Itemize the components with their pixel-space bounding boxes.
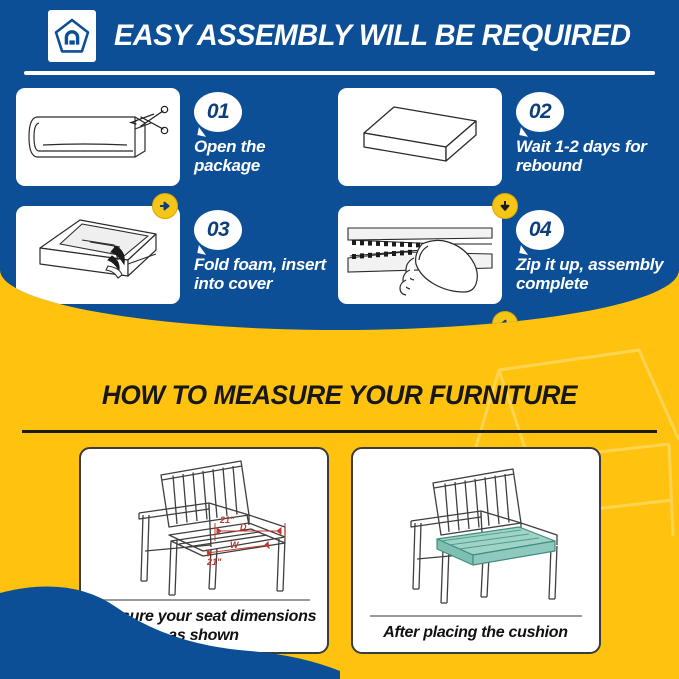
measure-panels: 21" D W 21" Measure your seat dimensions… — [0, 447, 679, 654]
measure-section: HOW TO MEASURE YOUR FURNITURE — [0, 330, 679, 679]
step-04-text: 04 Zip it up, assembly complete — [516, 206, 679, 293]
step-row-2: 03 Fold foam, insert into cover — [0, 206, 679, 324]
step-01-number: 01 — [207, 100, 229, 124]
panel-cushion-placed: After placing the cushion — [351, 447, 601, 654]
step-03-label: Fold foam, insert into cover — [194, 255, 330, 293]
step-04-label: Zip it up, assembly complete — [516, 255, 679, 293]
panel-cushion-illustration — [353, 449, 599, 615]
step-02-illustration — [338, 88, 502, 186]
panel-measure-illustration: 21" D W 21" — [81, 449, 327, 599]
step-02-number: 02 — [529, 100, 551, 124]
arrow-down-icon — [492, 193, 518, 219]
step-02-label: Wait 1-2 days for rebound — [516, 137, 679, 175]
step-04-number-badge: 04 — [516, 210, 564, 250]
step-01-label: Open the package — [194, 137, 330, 175]
panel-measure-dimensions: 21" D W 21" Measure your seat dimensions… — [79, 447, 329, 654]
step-02: 02 Wait 1-2 days for rebound — [330, 88, 679, 206]
assembly-instructions-infographic: EASY ASSEMBLY WILL BE REQUIRED — [0, 0, 679, 679]
step-row-1: 01 Open the package — [0, 88, 679, 206]
assembly-section: EASY ASSEMBLY WILL BE REQUIRED — [0, 0, 679, 330]
measure-title: HOW TO MEASURE YOUR FURNITURE — [10, 380, 669, 411]
step-03-number: 03 — [207, 218, 229, 242]
step-04-number: 04 — [529, 218, 551, 242]
step-02-number-badge: 02 — [516, 92, 564, 132]
assembly-steps: 01 Open the package — [0, 88, 679, 324]
dimension-label-depth: D — [240, 522, 247, 532]
step-03-number-badge: 03 — [194, 210, 242, 250]
step-04-illustration — [338, 206, 502, 304]
step-01-illustration — [16, 88, 180, 186]
measure-divider — [22, 430, 657, 433]
arrow-right-icon — [152, 193, 178, 219]
step-03-text: 03 Fold foam, insert into cover — [194, 206, 330, 293]
assembly-header: EASY ASSEMBLY WILL BE REQUIRED — [0, 8, 679, 64]
step-01-number-badge: 01 — [194, 92, 242, 132]
dimension-label-width-bottom: 21" — [206, 557, 222, 567]
dimension-label-depth-top: 21" — [219, 515, 235, 525]
step-03: 03 Fold foam, insert into cover — [0, 206, 330, 324]
step-04: 04 Zip it up, assembly complete — [330, 206, 679, 324]
arrow-left-icon — [492, 311, 518, 330]
step-01-text: 01 Open the package — [194, 88, 330, 175]
page-title: EASY ASSEMBLY WILL BE REQUIRED — [114, 19, 631, 53]
step-01: 01 Open the package — [0, 88, 330, 206]
step-02-text: 02 Wait 1-2 days for rebound — [516, 88, 679, 175]
panel-measure-caption: Measure your seat dimensions as shown — [81, 601, 327, 654]
header-divider — [24, 71, 655, 75]
panel-cushion-caption: After placing the cushion — [377, 617, 574, 652]
step-03-illustration — [16, 206, 180, 304]
house-pentagon-icon — [48, 10, 96, 62]
